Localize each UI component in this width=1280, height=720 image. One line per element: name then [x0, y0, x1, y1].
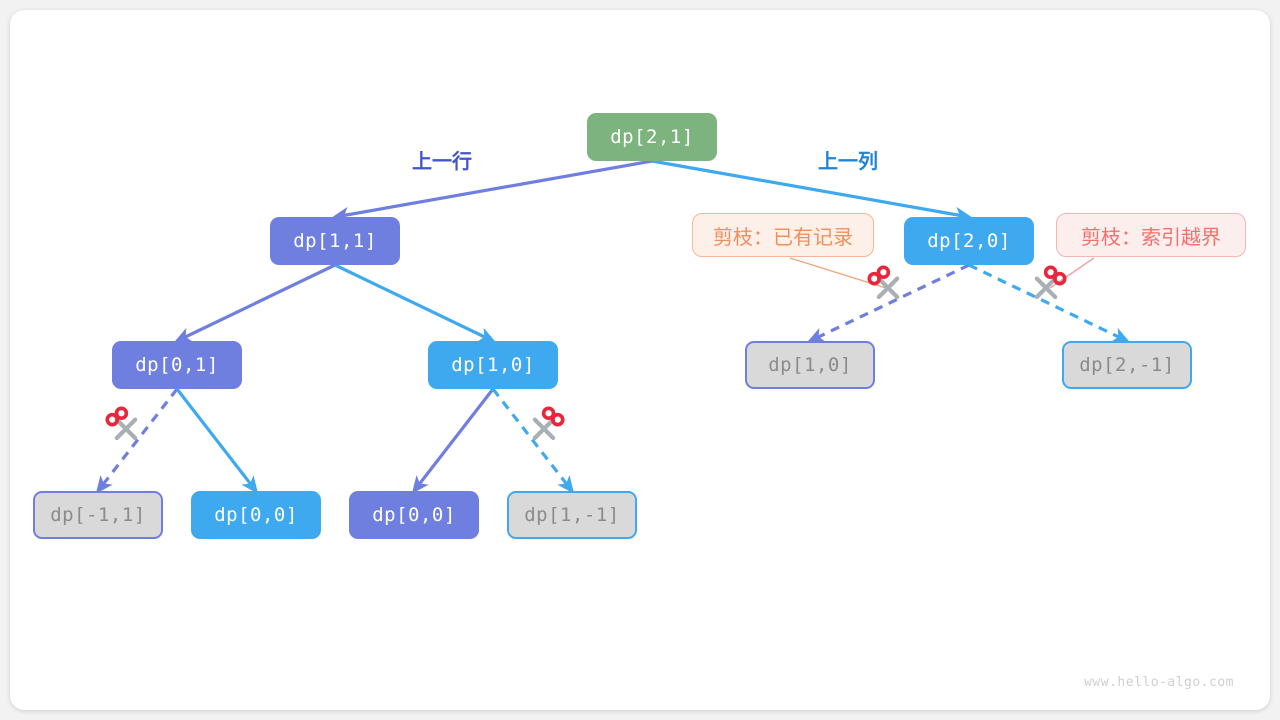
node-l3a: dp[-1,1]	[33, 491, 163, 539]
node-label: dp[2,1]	[610, 126, 694, 148]
node-label: dp[0,0]	[214, 504, 298, 526]
diagram-stage: dp[2,1]dp[1,1]dp[2,0]dp[0,1]dp[1,0]dp[1,…	[10, 10, 1270, 710]
edge-label-prev-column: 上一列	[818, 145, 878, 174]
annotation-already-recorded: 剪枝：已有记录	[692, 213, 874, 257]
node-label: dp[-1,1]	[50, 504, 146, 526]
edge-root-to-l1a	[335, 161, 652, 217]
node-l2c: dp[1,0]	[745, 341, 875, 389]
node-l1a: dp[1,1]	[270, 217, 400, 265]
scissors-icon	[1024, 264, 1068, 308]
node-label: dp[1,0]	[768, 354, 852, 376]
edge-label-prev-row: 上一行	[412, 145, 472, 174]
node-label: dp[2,0]	[927, 230, 1011, 252]
node-root: dp[2,1]	[587, 113, 717, 161]
node-l1b: dp[2,0]	[904, 217, 1034, 265]
node-l3d: dp[1,-1]	[507, 491, 637, 539]
watermark: www.hello-algo.com	[1084, 675, 1234, 690]
node-label: dp[1,0]	[451, 354, 535, 376]
node-l2b: dp[1,0]	[428, 341, 558, 389]
node-label: dp[1,-1]	[524, 504, 620, 526]
scissors-icon	[104, 405, 148, 449]
node-l3b: dp[0,0]	[191, 491, 321, 539]
node-l2d: dp[2,-1]	[1062, 341, 1192, 389]
node-label: dp[1,1]	[293, 230, 377, 252]
scissors-icon	[866, 264, 910, 308]
edge-l2a-to-l3b	[177, 389, 256, 491]
node-label: dp[2,-1]	[1079, 354, 1175, 376]
edge-l1a-to-l2a	[177, 265, 335, 341]
edge-root-to-l1b	[652, 161, 969, 217]
diagram-card: dp[2,1]dp[1,1]dp[2,0]dp[0,1]dp[1,0]dp[1,…	[10, 10, 1270, 710]
node-l2a: dp[0,1]	[112, 341, 242, 389]
node-l3c: dp[0,0]	[349, 491, 479, 539]
edge-l2b-to-l3c	[414, 389, 493, 491]
scissors-icon	[522, 405, 566, 449]
node-label: dp[0,0]	[372, 504, 456, 526]
annotation-index-out-of-bounds: 剪枝：索引越界	[1056, 213, 1246, 257]
node-label: dp[0,1]	[135, 354, 219, 376]
edge-l1a-to-l2b	[335, 265, 493, 341]
